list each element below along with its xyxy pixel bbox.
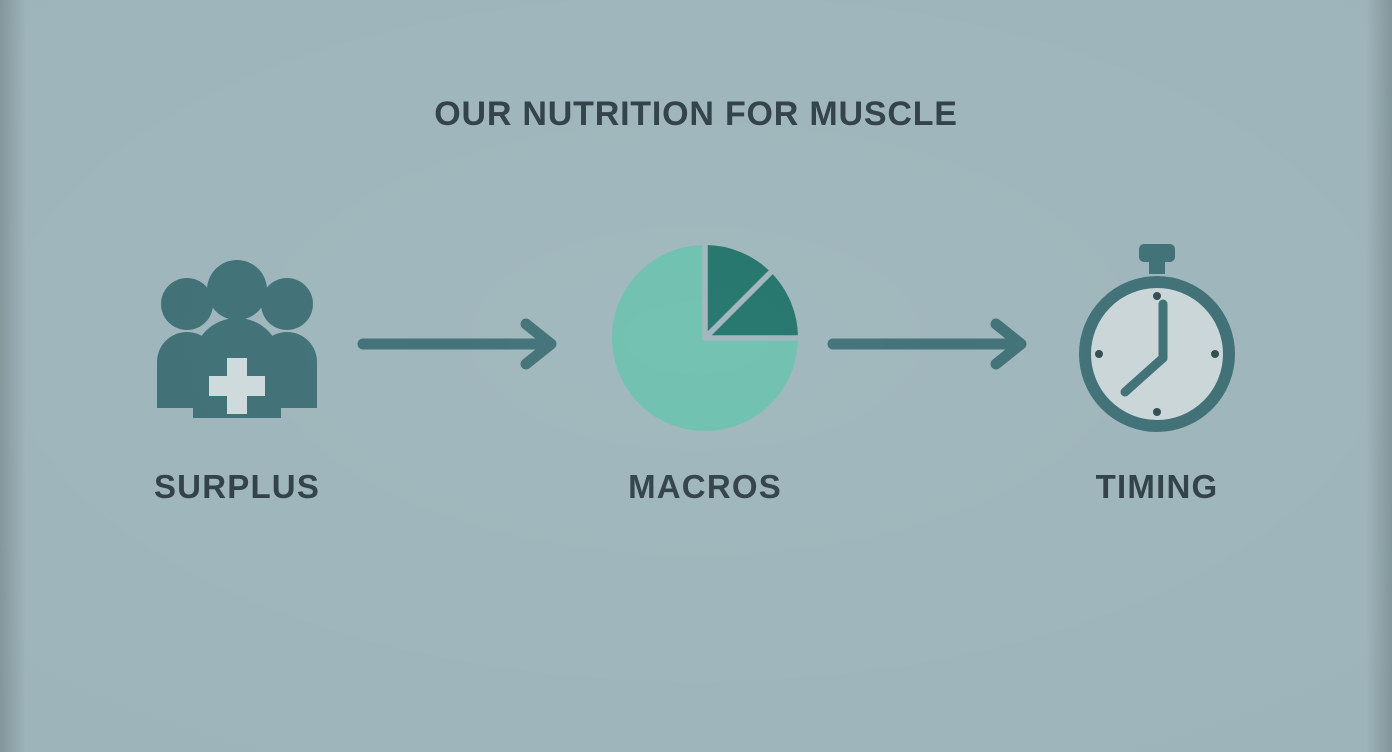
infographic-canvas: OUR NUTRITION FOR MUSCLE SURPLUS	[0, 0, 1392, 752]
page-title: OUR NUTRITION FOR MUSCLE	[0, 95, 1392, 134]
pie-chart-icon	[612, 245, 798, 431]
step-macros: MACROS	[555, 238, 855, 506]
step-macros-label: MACROS	[555, 468, 855, 506]
step-macros-icon-wrap	[555, 238, 855, 438]
step-timing-icon-wrap	[1007, 238, 1307, 438]
people-group-medical-icon	[149, 258, 325, 418]
stopwatch-icon	[1071, 240, 1243, 436]
arrow-macros-to-timing	[826, 318, 1036, 370]
step-surplus-icon-wrap	[87, 238, 387, 438]
step-surplus: SURPLUS	[87, 238, 387, 506]
step-timing-label: TIMING	[1007, 468, 1307, 506]
arrow-right-icon	[356, 318, 566, 370]
arrow-right-icon	[826, 318, 1036, 370]
step-timing: TIMING	[1007, 238, 1307, 506]
arrow-surplus-to-macros	[356, 318, 566, 370]
step-surplus-label: SURPLUS	[87, 468, 387, 506]
